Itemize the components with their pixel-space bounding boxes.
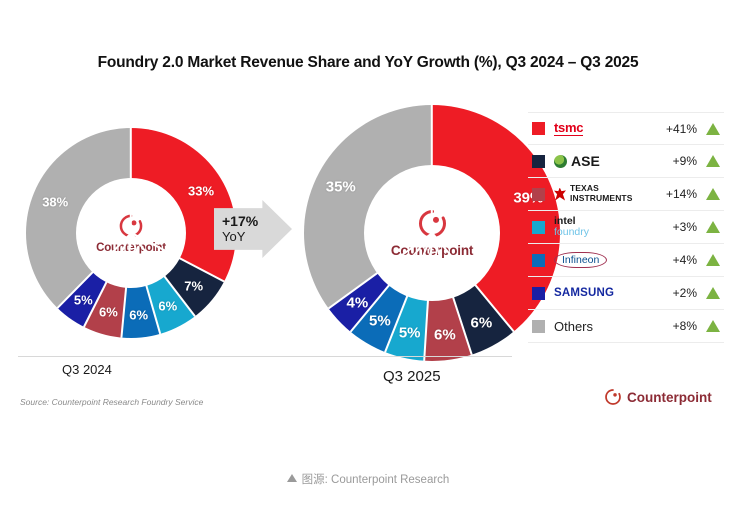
legend-row-intel-foundry[interactable]: intel foundry +3%: [528, 211, 724, 244]
slice-label-others: 38%: [42, 194, 68, 209]
image-source-text: 图源: Counterpoint Research: [302, 474, 450, 486]
counterpoint-logo-icon: [604, 388, 622, 406]
legend-swatch-infineon: [532, 254, 545, 267]
yoy-growth-arrow: +17% YoY: [214, 200, 292, 258]
slice-label-intel-foundry: 6%: [158, 299, 177, 314]
slice-separator: [431, 105, 433, 233]
up-triangle-icon: [706, 155, 720, 167]
intel-foundry-logo: intel foundry: [554, 216, 589, 238]
slice-separator: [130, 128, 132, 233]
intel-line-2: foundry: [554, 227, 589, 238]
period-label-left: Q3 2024: [62, 362, 112, 377]
up-triangle-icon: [706, 320, 720, 332]
texas-instruments-logo-icon: [554, 188, 566, 201]
donut-chart-q3-2025: Counterpoint 39%6%6%5%5%4%35%: [304, 105, 560, 361]
slice-label-samsung: 4%: [347, 295, 369, 312]
up-triangle-icon: [706, 254, 720, 266]
legend: tsmc +41% ASE +9% TEXAS INSTRUMENTS: [528, 112, 724, 343]
yoy-unit: YoY: [222, 229, 245, 245]
up-triangle-icon: [287, 474, 297, 482]
period-label-right: Q3 2025: [383, 368, 441, 385]
slice-label-texas-instruments: 6%: [99, 304, 118, 319]
slice-label-infineon: 5%: [369, 313, 391, 330]
image-source-caption: 图源: Counterpoint Research: [0, 471, 736, 487]
legend-swatch-intel-foundry: [532, 221, 545, 234]
slice-label-texas-instruments: 6%: [434, 326, 456, 343]
ase-logo-text: ASE: [571, 153, 600, 169]
slice-label-intel-foundry: 5%: [399, 324, 421, 341]
legend-growth-ase: +9%: [655, 154, 697, 168]
legend-brand-texas-instruments: TEXAS INSTRUMENTS: [554, 178, 655, 210]
legend-swatch-tsmc: [532, 122, 545, 135]
legend-row-infineon[interactable]: Infineon +4%: [528, 244, 724, 277]
legend-growth-tsmc: +41%: [655, 122, 697, 136]
ti-line-1: TEXAS: [570, 183, 599, 193]
brand-name: Counterpoint: [96, 242, 166, 254]
divider: [18, 356, 512, 357]
ti-line-2: INSTRUMENTS: [570, 193, 633, 203]
up-triangle-icon: [706, 123, 720, 135]
brand-name: Counterpoint: [627, 390, 712, 405]
slice-label-samsung: 5%: [74, 292, 93, 307]
legend-brand-samsung: SAMSUNG: [554, 277, 655, 309]
legend-swatch-texas-instruments: [532, 188, 545, 201]
texas-instruments-logo-text: TEXAS INSTRUMENTS: [570, 184, 633, 203]
counterpoint-footer-logo: Counterpoint: [604, 388, 712, 406]
up-triangle-icon: [706, 221, 720, 233]
legend-growth-samsung: +2%: [655, 286, 697, 300]
legend-row-texas-instruments[interactable]: TEXAS INSTRUMENTS +14%: [528, 178, 724, 211]
donut-ring-q3-2025: Counterpoint 39%6%6%5%5%4%35%: [304, 105, 560, 361]
infineon-logo: Infineon: [554, 252, 607, 268]
legend-row-tsmc[interactable]: tsmc +41%: [528, 112, 724, 145]
legend-brand-tsmc: tsmc: [554, 113, 655, 144]
donut-ring-q3-2024: Counterpoint 33%7%6%6%6%5%38%: [26, 128, 236, 338]
donut-chart-q3-2024: Counterpoint 33%7%6%6%6%5%38%: [26, 128, 236, 338]
legend-row-others[interactable]: Others +8%: [528, 310, 724, 343]
page-title: Foundry 2.0 Market Revenue Share and YoY…: [0, 54, 736, 72]
others-label: Others: [554, 319, 593, 334]
legend-row-samsung[interactable]: SAMSUNG +2%: [528, 277, 724, 310]
legend-swatch-samsung: [532, 287, 545, 300]
tsmc-logo: tsmc: [554, 121, 583, 136]
yoy-value: +17%: [222, 214, 258, 229]
up-triangle-icon: [706, 287, 720, 299]
samsung-logo: SAMSUNG: [554, 287, 614, 299]
legend-growth-texas-instruments: +14%: [655, 187, 697, 201]
slice-label-tsmc: 33%: [188, 183, 214, 198]
slice-label-others: 35%: [326, 178, 356, 195]
source-note: Source: Counterpoint Research Foundry Se…: [20, 397, 203, 407]
legend-swatch-ase: [532, 155, 545, 168]
legend-row-ase[interactable]: ASE +9%: [528, 145, 724, 178]
up-triangle-icon: [706, 188, 720, 200]
legend-growth-infineon: +4%: [655, 253, 697, 267]
legend-brand-intel-foundry: intel foundry: [554, 211, 655, 243]
legend-swatch-others: [532, 320, 545, 333]
legend-brand-infineon: Infineon: [554, 244, 655, 276]
slice-label-ase: 7%: [184, 278, 203, 293]
legend-brand-ase: ASE: [554, 145, 655, 177]
legend-growth-intel-foundry: +3%: [655, 220, 697, 234]
chart-card: Foundry 2.0 Market Revenue Share and YoY…: [0, 0, 736, 438]
slice-label-infineon: 6%: [129, 307, 148, 322]
legend-growth-others: +8%: [655, 319, 697, 333]
legend-brand-others: Others: [554, 310, 655, 342]
ase-logo-icon: [554, 155, 567, 168]
slice-label-ase: 6%: [470, 314, 492, 331]
